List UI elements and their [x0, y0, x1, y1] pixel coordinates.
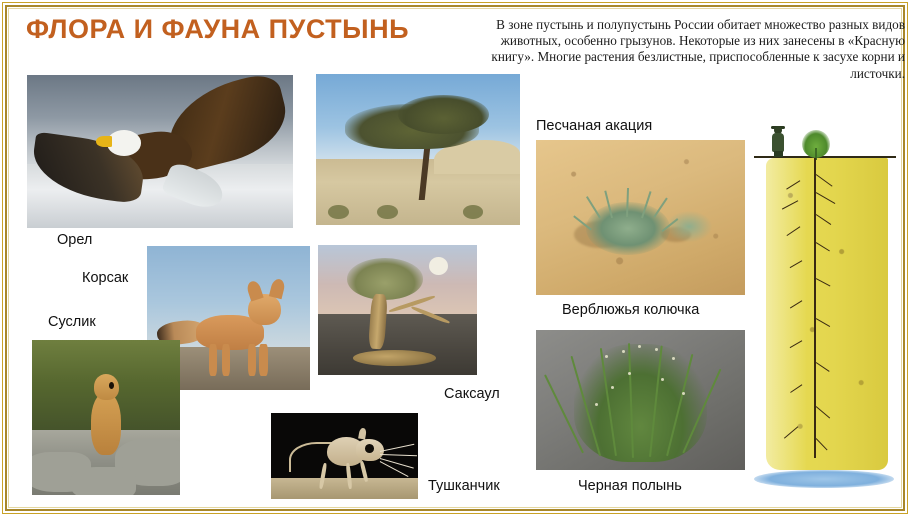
human-scale-figure	[768, 126, 788, 158]
wormwood-flower	[628, 372, 631, 375]
wormwood-flower	[622, 350, 625, 353]
suslik-eye	[109, 382, 114, 389]
jerboa-photo	[271, 413, 418, 499]
wormwood-flower	[682, 392, 685, 395]
suslik-head	[94, 374, 119, 400]
suslik-photo	[32, 340, 180, 495]
wormwood-flower	[672, 357, 675, 360]
fox-leg	[222, 344, 230, 376]
human-coat	[772, 133, 784, 152]
eagle-photo	[27, 75, 293, 228]
saxaul-foliage	[347, 258, 423, 300]
taproot	[814, 158, 816, 458]
fox-leg	[209, 344, 217, 376]
human-legs	[774, 151, 783, 157]
thorn-clump-small	[666, 211, 712, 242]
acacia-scrub	[328, 205, 348, 219]
fox-leg	[259, 344, 267, 376]
eagle-beak	[96, 136, 112, 147]
root-depth-diagram	[748, 118, 900, 500]
caption-eagle: Орел	[57, 232, 92, 248]
acacia-scrub	[377, 205, 397, 219]
page-title: ФЛОРА И ФАУНА ПУСТЫНЬ	[26, 14, 409, 45]
fox-leg	[248, 344, 256, 376]
soil-column	[766, 158, 888, 470]
wormwood-flower	[595, 403, 598, 406]
intro-paragraph: В зоне пустынь и полупустынь России обит…	[455, 17, 905, 82]
saxaul-photo	[318, 245, 477, 375]
groundwater-layer	[754, 470, 894, 488]
wormwood-photo	[536, 330, 745, 470]
acacia-tree-photo	[316, 74, 520, 225]
caption-camel-thorn: Верблюжья колючка	[562, 302, 699, 318]
caption-jerboa: Тушканчик	[428, 478, 500, 494]
jerboa-eye	[365, 444, 374, 453]
suslik-body	[91, 393, 121, 455]
caption-saxaul: Саксаул	[444, 386, 500, 402]
slide-root: ФЛОРА И ФАУНА ПУСТЫНЬ В зоне пустынь и п…	[0, 0, 910, 516]
rock	[70, 467, 135, 495]
caption-corsac: Корсак	[82, 270, 128, 286]
caption-suslik: Суслик	[48, 314, 96, 330]
acacia-scrub	[463, 205, 483, 219]
caption-black-wormwood: Черная полынь	[578, 478, 682, 494]
jerboa-sand	[271, 478, 418, 499]
caption-sand-acacia: Песчаная акация	[536, 118, 652, 134]
camel-thorn-photo	[536, 140, 745, 295]
saxaul-root-base	[353, 350, 436, 366]
